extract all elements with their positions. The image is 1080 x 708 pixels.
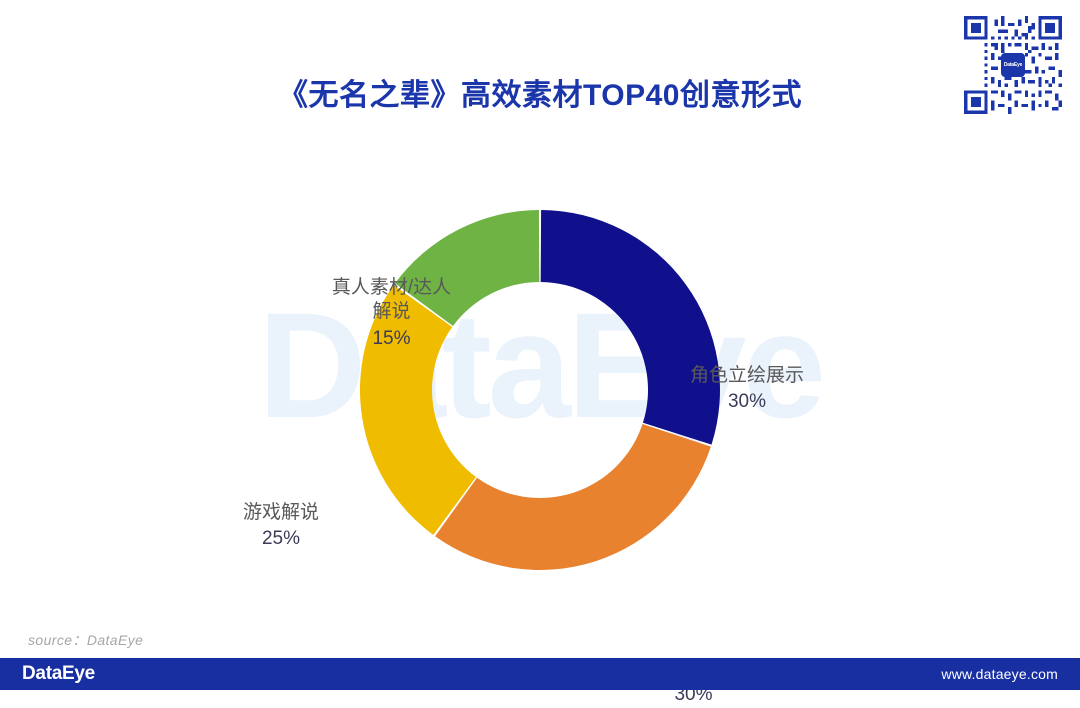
slice-label-game-commentary-value: 25%	[243, 527, 319, 551]
slice-label-role-art: 角色立绘展示 30%	[690, 364, 804, 415]
slice-label-true-person: 真人素材/达人 解说 15%	[284, 276, 499, 351]
footer-bar: DataEye www.dataeye.com	[0, 658, 1080, 690]
page-title: 《无名之辈》高效素材TOP40创意形式	[0, 70, 1080, 114]
slice-label-true-person-name-line1: 真人素材/达人	[284, 276, 499, 300]
slice-label-true-person-value: 15%	[284, 327, 499, 351]
footer-logo: DataEye	[22, 663, 95, 685]
slice-label-role-art-name: 角色立绘展示	[690, 364, 804, 388]
footer-url[interactable]: www.dataeye.com	[941, 666, 1058, 682]
slice-label-role-art-value: 30%	[690, 390, 804, 414]
slice-label-true-person-name-line2: 解说	[284, 300, 499, 324]
slice-label-game-commentary: 游戏解说 25%	[243, 501, 319, 552]
source-note: source：DataEye	[28, 630, 143, 650]
donut-chart-svg	[345, 195, 735, 585]
slice-label-game-commentary-name: 游戏解说	[243, 501, 319, 525]
donut-slice-1[interactable]	[435, 424, 711, 570]
donut-chart: 真人素材/达人 解说 15% 角色立绘展示 30% 类国漫短片 30% 游戏解说…	[0, 130, 1080, 620]
